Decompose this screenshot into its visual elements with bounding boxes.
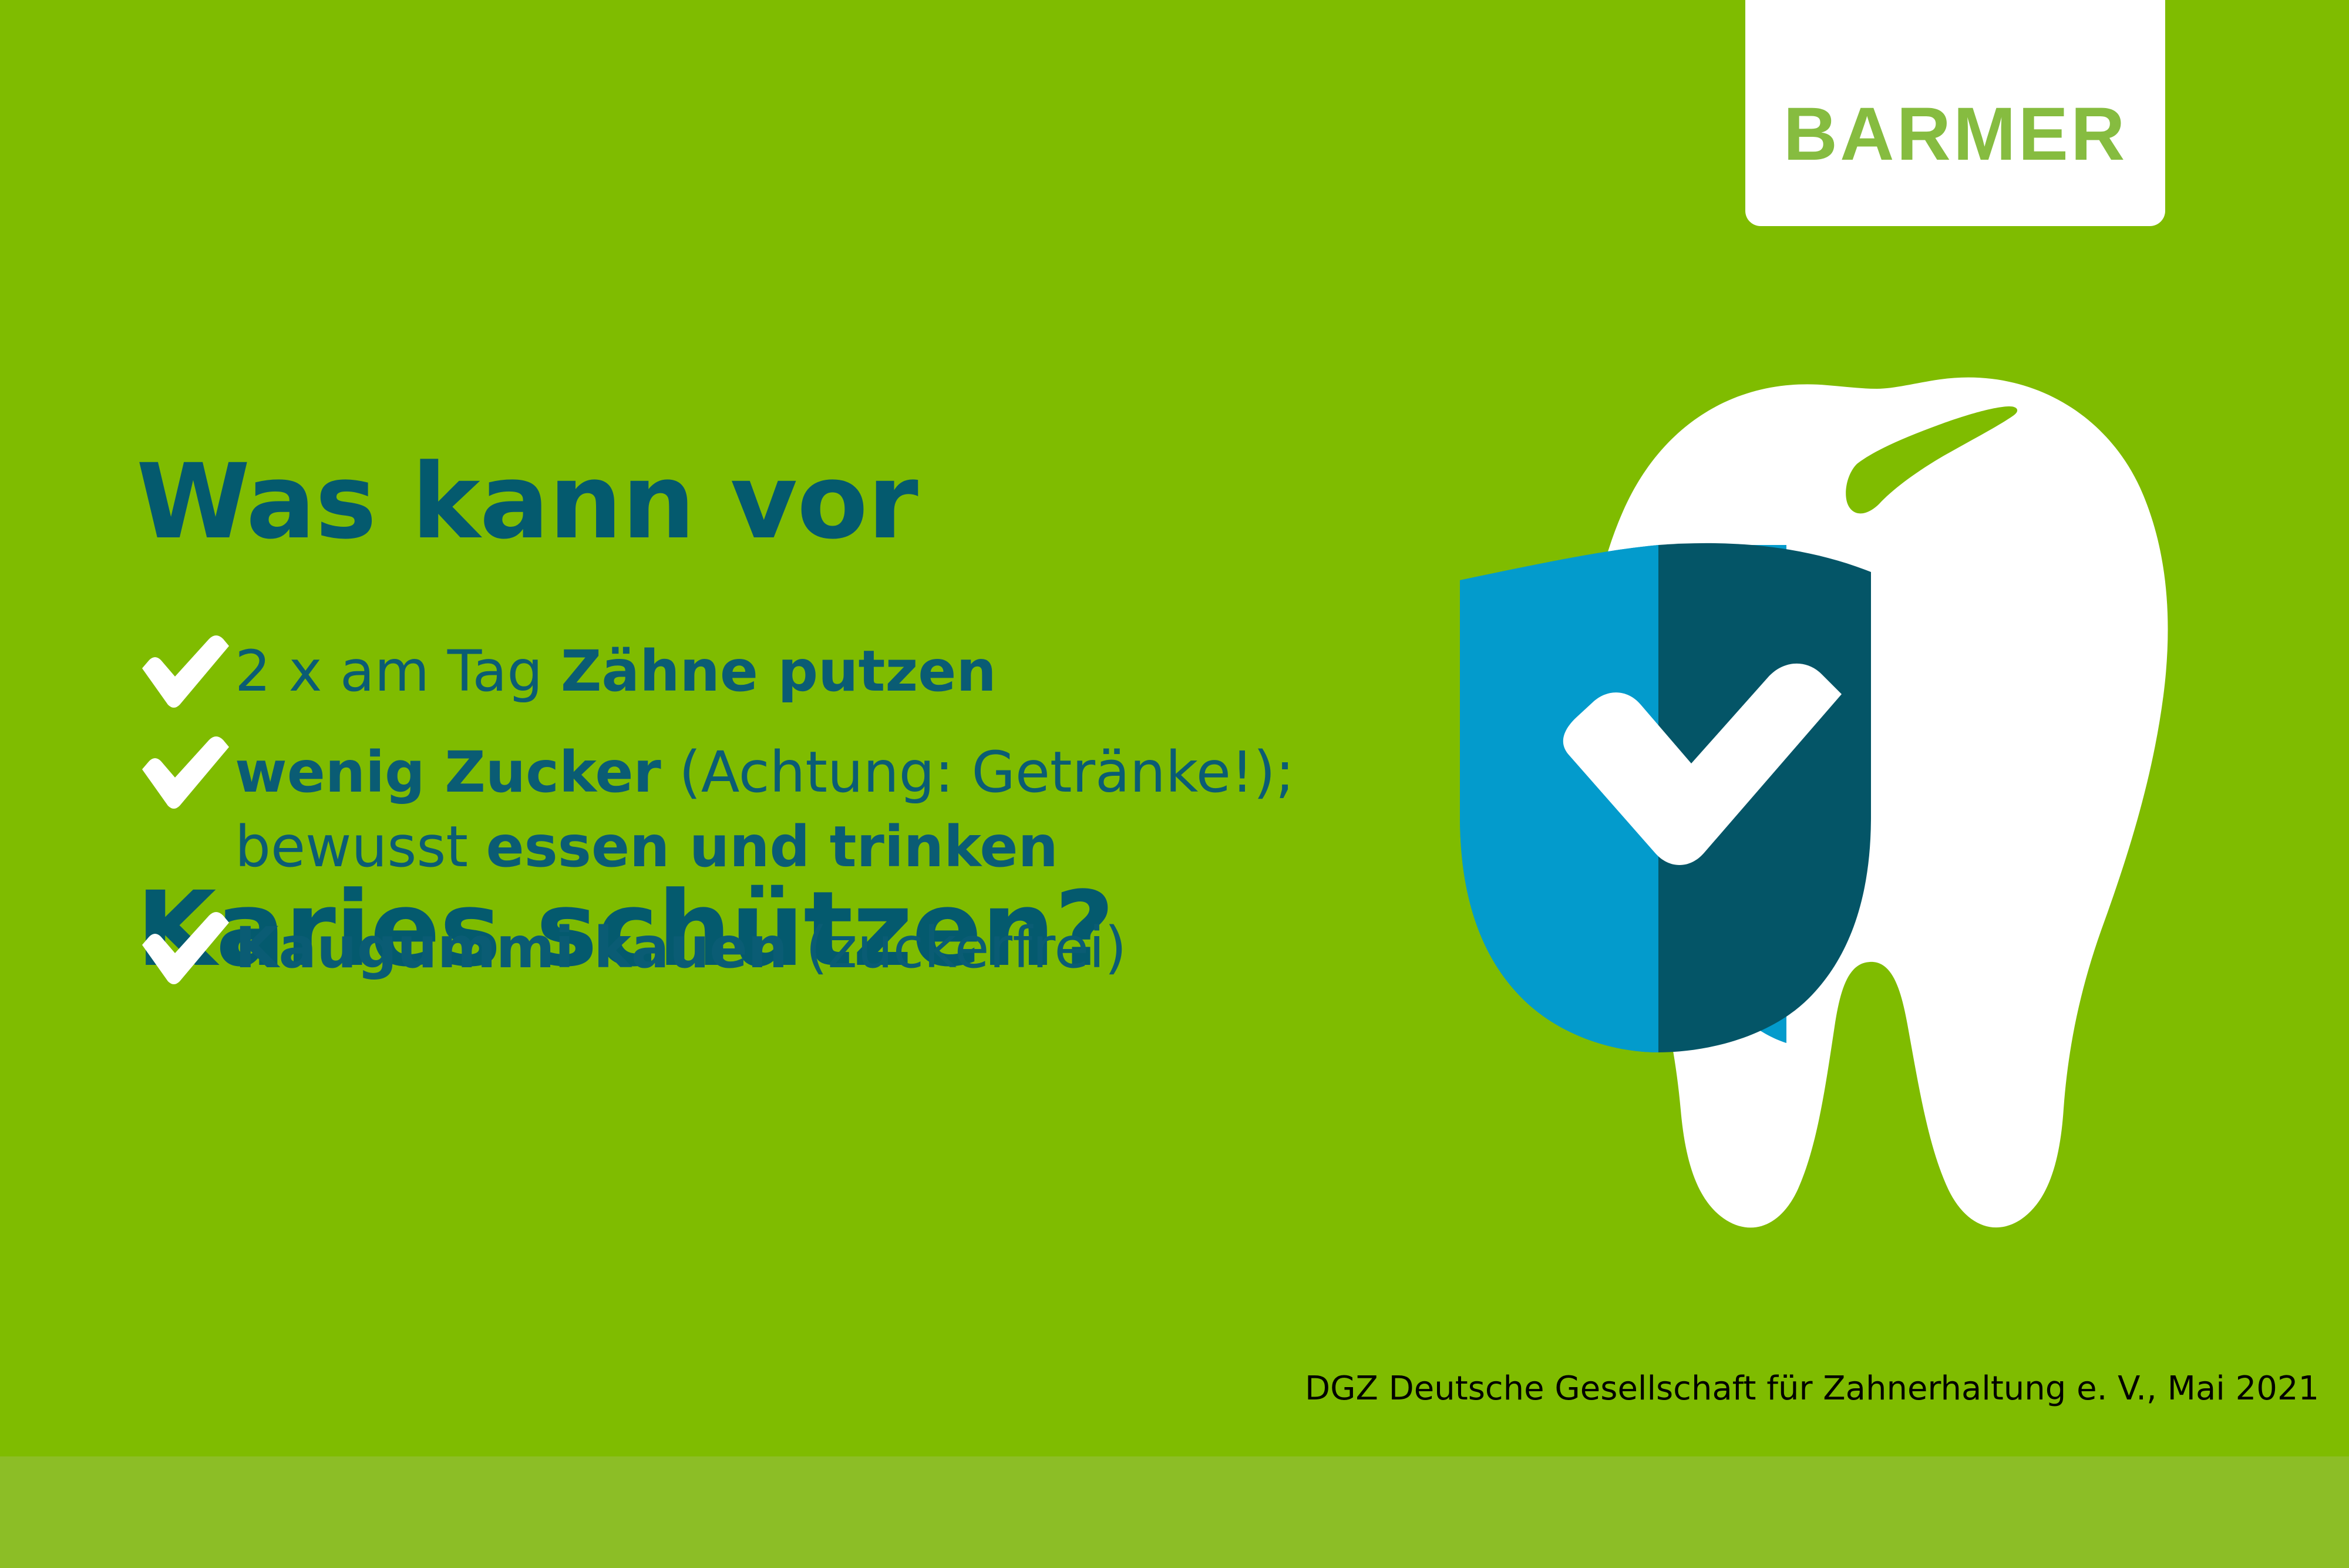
list-item-text: 2 x am Tag Zähne putzen — [235, 630, 997, 709]
list-item-text: Kaugummi kauen (zuckerfrei) — [235, 906, 1126, 986]
list-item: 2 x am Tag Zähne putzen — [134, 630, 1473, 709]
list-item-segment: essen und trinken — [486, 814, 1058, 880]
source-credit: DGZ Deutsche Gesellschaft für Zahnerhalt… — [1305, 1370, 2297, 1408]
list-item: wenig Zucker (Achtung: Getränke!); bewus… — [134, 731, 1473, 885]
check-icon — [134, 632, 235, 708]
barmer-wordmark: BARMER — [1783, 97, 2128, 172]
list-item-text: wenig Zucker (Achtung: Getränke!); bewus… — [235, 731, 1294, 885]
list-item-segment: Zähne putzen — [561, 638, 997, 704]
list-item-segment: Kaugummi kauen — [235, 915, 788, 981]
bottom-color-band — [0, 1456, 2349, 1568]
list-item-segment: wenig Zucker — [235, 739, 661, 805]
page-title-line-1: Was kann vor — [136, 431, 1114, 574]
list-item-segment: bewusst — [235, 814, 486, 880]
list-item: Kaugummi kauen (zuckerfrei) — [134, 906, 1473, 986]
check-icon — [134, 909, 235, 985]
barmer-logo-plate: BARMER — [1745, 0, 2165, 226]
check-icon — [134, 733, 235, 809]
tooth-shield-illustration — [1409, 352, 2243, 1245]
poster-canvas: BARMER Was kann vor Karies schützen? 2 x… — [0, 0, 2349, 1568]
shield-icon — [1460, 543, 1871, 1052]
tips-list: 2 x am Tag Zähne putzen wenig Zucker (Ac… — [134, 630, 1473, 1007]
list-item-segment: (zuckerfrei) — [788, 915, 1126, 981]
list-item-segment: 2 x am Tag — [235, 638, 561, 704]
list-item-segment: (Achtung: Getränke!); — [661, 739, 1294, 805]
